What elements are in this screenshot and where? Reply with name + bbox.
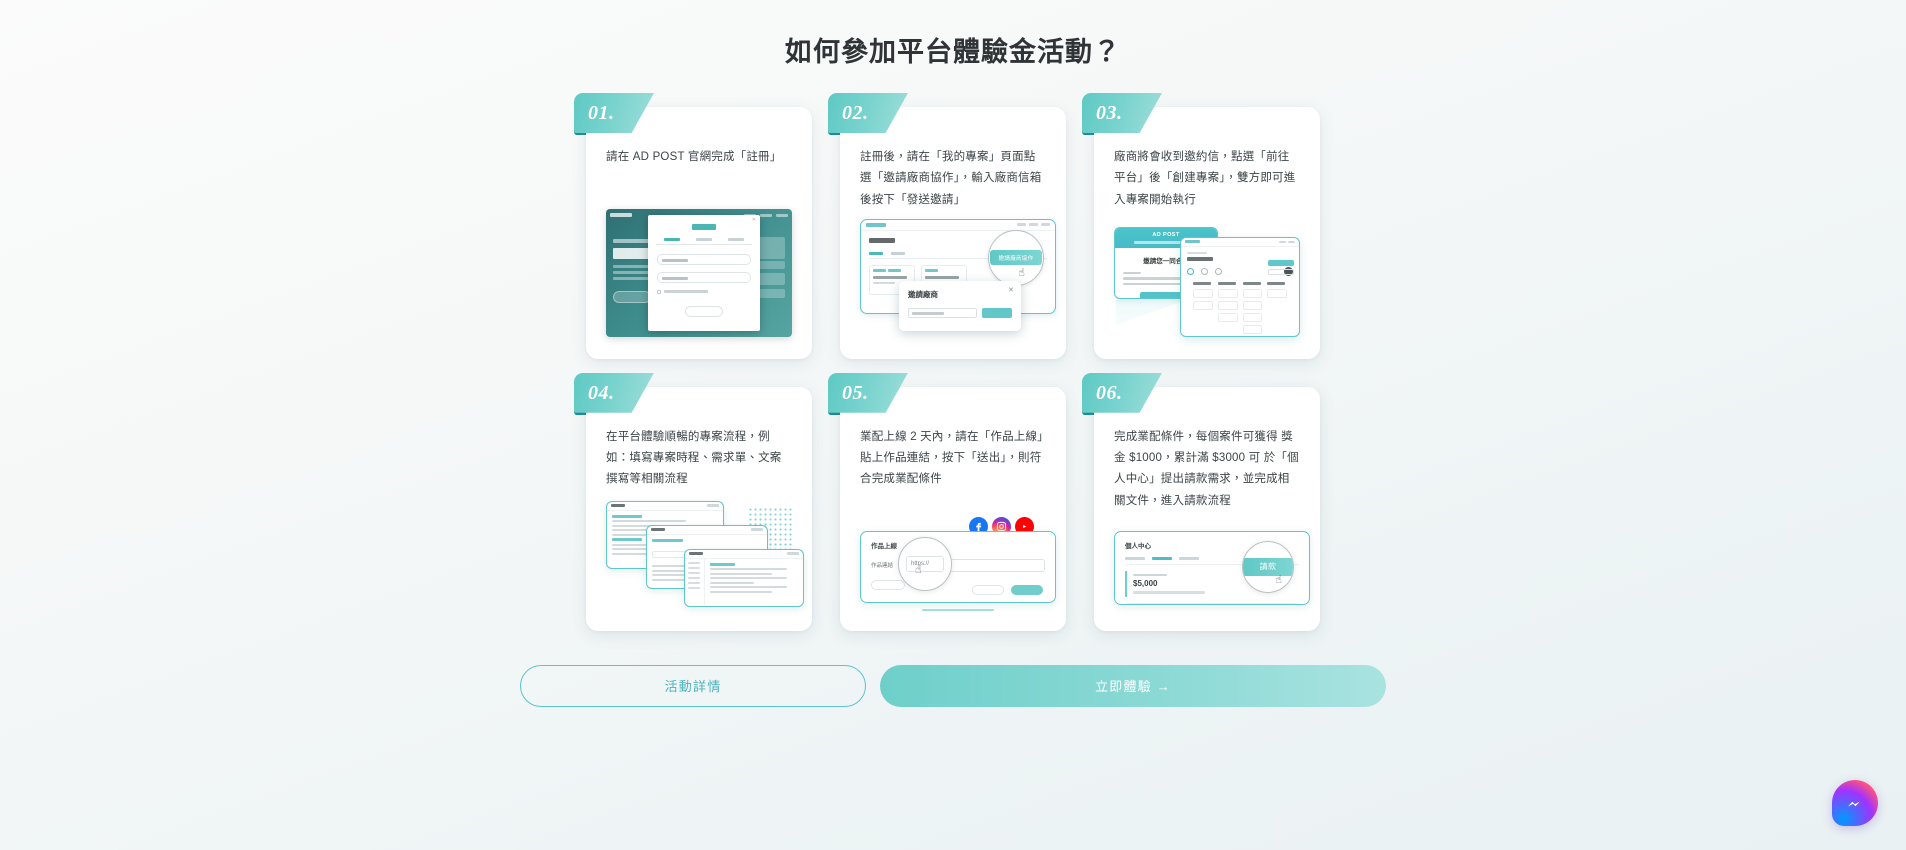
submit-button[interactable]: [1011, 585, 1043, 595]
step-figure: [606, 499, 792, 609]
hero-cta-button: [613, 291, 651, 303]
badge-ribbon: 01.: [574, 93, 654, 133]
brand-logo: [866, 223, 886, 227]
project-dashboard: [1180, 237, 1300, 337]
vendor-email-input[interactable]: [908, 308, 977, 318]
dashboard-title: [1187, 257, 1213, 261]
step-figure: 作品上線 作品連結 https:// ☝: [860, 517, 1046, 609]
invitation-email-dashboard-screenshot: AD POST 邀請您一同合作: [1114, 221, 1300, 337]
landing-page: 如何參加平台體驗金活動？ 01. 請在 AD POST 官網完成「註冊」: [0, 0, 1906, 850]
brand-logo: [1185, 240, 1200, 243]
kanban-column: [1267, 282, 1287, 337]
workflow-screen-3: [684, 549, 804, 607]
zoom-lens: 請款: [1242, 541, 1294, 593]
work-upload-screenshot: 作品上線 作品連結 https:// ☝: [860, 517, 1046, 609]
withdraw-history-panel: [1125, 603, 1299, 605]
panel-actions: [972, 585, 1043, 595]
my-projects-invite-screenshot: 邀請廠商協作 ☝ 邀請廠商 ✕: [860, 219, 1046, 337]
step-description: 業配上線 2 天內，請在「作品上線」貼上作品連結，按下「送出」，則符合完成業配條…: [860, 427, 1046, 491]
step-badge-04: 04.: [574, 373, 656, 413]
badge-ribbon: 02.: [828, 93, 908, 133]
step-number: 06.: [1082, 383, 1123, 403]
invite-vendor-button[interactable]: 邀請廠商協作: [990, 250, 1042, 265]
messenger-chat-button[interactable]: [1832, 780, 1878, 826]
step-number: 01.: [574, 103, 615, 123]
badge-ribbon: 04.: [574, 373, 654, 413]
modal-title: [692, 224, 716, 230]
kanban-column: [1218, 282, 1238, 337]
step-figure: AD POST 邀請您一同合作: [1114, 221, 1300, 337]
step-card-03: 03. 廠商將會收到邀約信，點選「前往平台」後「創建專案」，雙方即可進入專案開始…: [1094, 107, 1320, 359]
badge-ribbon: 06.: [1082, 373, 1162, 413]
add-row-button[interactable]: [871, 580, 905, 590]
kanban-column: [1243, 282, 1263, 337]
cursor-pointer-icon: ☝: [915, 565, 922, 576]
balance-note: [1133, 591, 1205, 594]
kanban-column: [1193, 282, 1213, 337]
step-number: 04.: [574, 383, 615, 403]
step-card-02: 02. 註冊後，請在「我的專案」頁面點選「邀請廠商協作」，輸入廠商信箱後按下「發…: [840, 107, 1066, 359]
step-description: 在平台體驗順暢的專案流程，例如：填寫專案時程、需求單、文案撰寫等相關流程: [606, 427, 792, 491]
registration-modal-screenshot: ✕: [606, 209, 792, 337]
step-badge-02: 02.: [828, 93, 910, 133]
email-field[interactable]: [657, 254, 751, 265]
cursor-pointer-icon: ☝: [1275, 575, 1282, 586]
zoom-lens: 邀請廠商協作: [988, 230, 1044, 286]
project-workflow-screens-illustration: [606, 499, 792, 609]
step-number: 03.: [1082, 103, 1123, 123]
create-project-button[interactable]: [1268, 260, 1294, 266]
step-badge-05: 05.: [828, 373, 910, 413]
panel-underline-decoration: [922, 609, 994, 611]
field-label: 作品連結: [871, 561, 893, 569]
topbar-actions: [1017, 223, 1050, 226]
badge-ribbon: 03.: [1082, 93, 1162, 133]
app-topbar: [861, 220, 1055, 231]
step-badge-06: 06.: [1082, 373, 1164, 413]
balance-caption: [1133, 574, 1167, 577]
kanban-columns: [1187, 282, 1293, 337]
cancel-button[interactable]: [972, 585, 1004, 595]
try-now-button[interactable]: 立即體驗 →: [880, 665, 1386, 707]
step-badge-03: 03.: [1082, 93, 1164, 133]
step-card-05: 05. 業配上線 2 天內，請在「作品上線」貼上作品連結，按下「送出」，則符合完…: [840, 387, 1066, 631]
page-title: 如何參加平台體驗金活動？: [0, 30, 1906, 69]
action-buttons: 活動詳情 立即體驗 →: [520, 665, 1386, 707]
step-description: 註冊後，請在「我的專案」頁面點選「邀請廠商協作」，輸入廠商信箱後按下「發送邀請」: [860, 147, 1046, 211]
email-brand: AD POST: [1152, 232, 1179, 238]
messenger-icon: [1842, 790, 1868, 816]
personal-center-withdraw-screenshot: 個人中心 $5,000 請款 ☝: [1114, 531, 1300, 609]
work-link-input-zoomed[interactable]: https://: [906, 556, 944, 572]
close-icon[interactable]: ✕: [752, 218, 756, 223]
next-button[interactable]: [685, 306, 723, 317]
step-description: 完成業配條件，每個案件可獲得 獎金 $1000，累計滿 $3000 可 於「個人…: [1114, 427, 1300, 512]
brand-logo: [610, 213, 632, 217]
step-number: 05.: [828, 383, 869, 403]
step-indicator: [648, 238, 760, 241]
panel-title: 作品上線: [871, 540, 1045, 550]
terms-checkbox[interactable]: [657, 290, 751, 294]
registration-modal: ✕: [648, 215, 760, 331]
invite-vendor-dialog: 邀請廠商 ✕: [899, 281, 1021, 331]
withdraw-button[interactable]: 請款: [1243, 558, 1293, 576]
steps-grid: 01. 請在 AD POST 官網完成「註冊」: [578, 107, 1328, 631]
dashboard-topbar: [1181, 238, 1299, 247]
step-badge-01: 01.: [574, 93, 656, 133]
zoom-lens: https://: [898, 537, 952, 591]
event-details-button[interactable]: 活動詳情: [520, 665, 866, 707]
step-number: 02.: [828, 103, 869, 123]
password-field[interactable]: [657, 272, 751, 283]
dialog-title: 邀請廠商: [908, 289, 1012, 300]
secondary-button[interactable]: [1268, 269, 1294, 275]
step-figure: 邀請廠商協作 ☝ 邀請廠商 ✕: [860, 219, 1046, 337]
step-figure: ✕: [606, 209, 792, 337]
step-card-01: 01. 請在 AD POST 官網完成「註冊」: [586, 107, 812, 359]
step-figure: 個人中心 $5,000 請款 ☝: [1114, 531, 1300, 609]
work-upload-panel: 作品上線 作品連結: [860, 531, 1056, 603]
step-description: 廠商將會收到邀約信，點選「前往平台」後「創建專案」，雙方即可進入專案開始執行: [1114, 147, 1300, 211]
step-card-06: 06. 完成業配條件，每個案件可獲得 獎金 $1000，累計滿 $3000 可 …: [1094, 387, 1320, 631]
badge-ribbon: 05.: [828, 373, 908, 413]
breadcrumb: [1187, 252, 1207, 254]
page-heading: [869, 238, 895, 243]
step-description: 請在 AD POST 官網完成「註冊」: [606, 147, 792, 169]
step-card-04: 04. 在平台體驗順暢的專案流程，例如：填寫專案時程、需求單、文案撰寫等相關流程: [586, 387, 812, 631]
dashboard-content: [1181, 247, 1299, 337]
close-icon[interactable]: ✕: [1008, 287, 1014, 294]
send-invite-button[interactable]: [982, 308, 1012, 318]
cursor-pointer-icon: ☝: [1018, 268, 1025, 279]
